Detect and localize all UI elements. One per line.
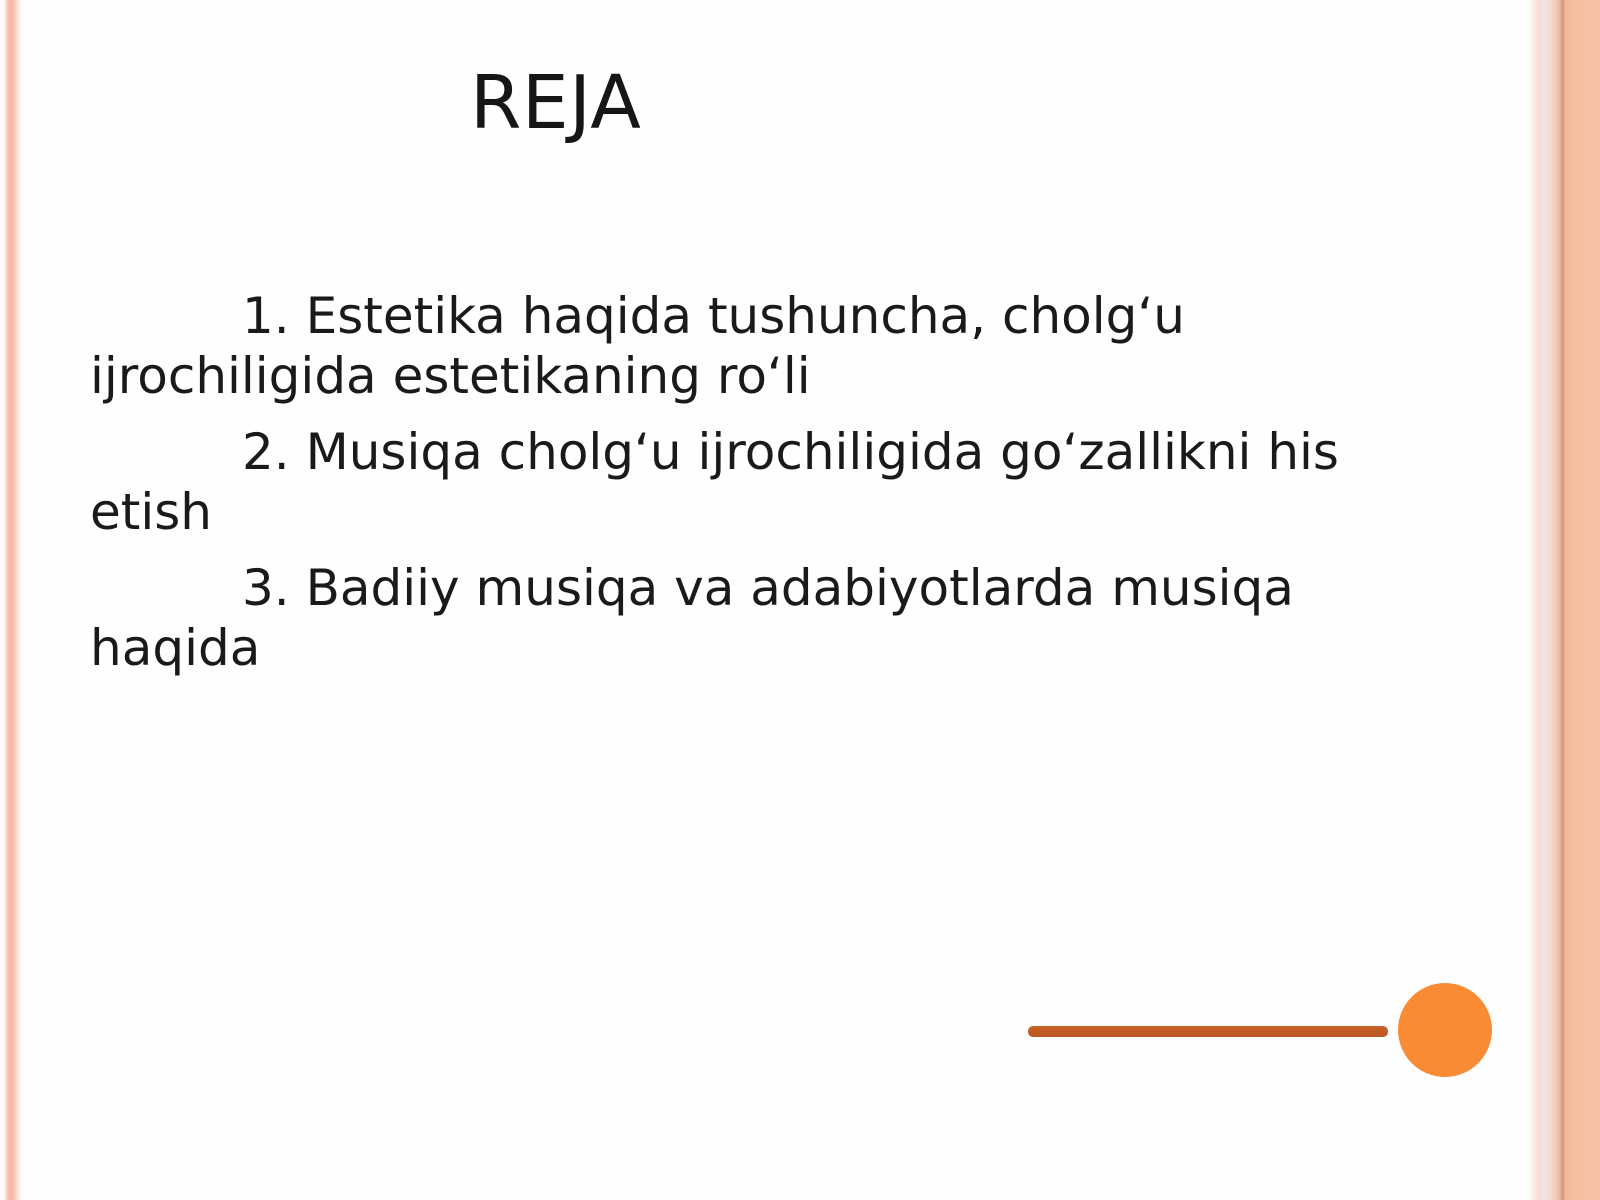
right-edge-band-decoration [1528, 0, 1600, 1200]
accent-line-decoration [1028, 1026, 1388, 1037]
slide-canvas: REJA 1. Estetika haqida tushuncha, cholg… [0, 0, 1600, 1200]
right-edge-hairline-decoration [1561, 0, 1564, 1200]
plan-list: 1. Estetika haqida tushuncha, cholg‘u ij… [90, 286, 1390, 678]
left-edge-stripe-decoration [0, 0, 24, 1200]
plan-item-1: 1. Estetika haqida tushuncha, cholg‘u ij… [90, 286, 1390, 406]
accent-circle-decoration [1398, 983, 1492, 1077]
slide-title: REJA [470, 66, 641, 140]
plan-item-2: 2. Musiqa cholg‘u ijrochiligida go‘zalli… [90, 422, 1390, 542]
plan-item-3: 3. Badiiy musiqa va adabiyotlarda musiqa… [90, 558, 1390, 678]
